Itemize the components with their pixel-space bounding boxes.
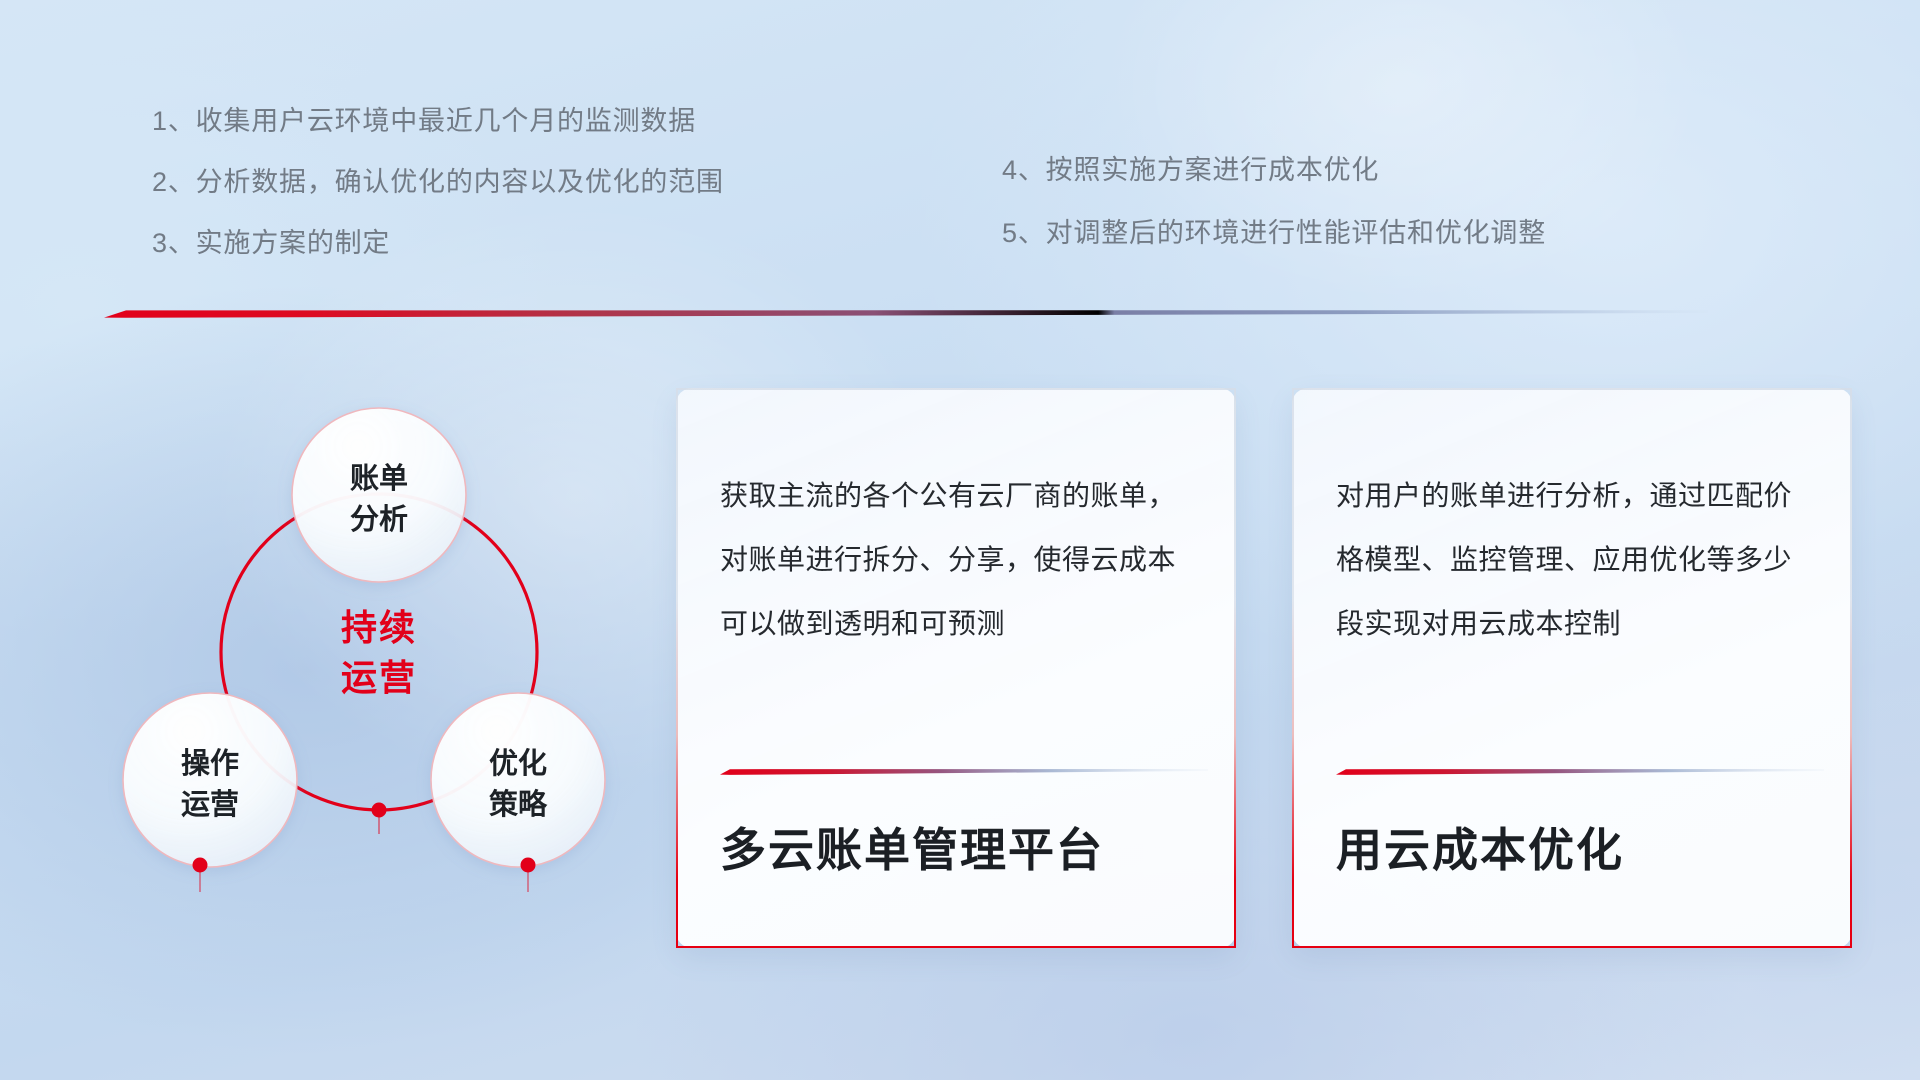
- step-item: 4、按照实施方案进行成本优化: [1002, 157, 1546, 184]
- venn-node-bottom-left: 操作 运营: [123, 693, 297, 892]
- steps-left-column: 1、收集用户云环境中最近几个月的监测数据 2、分析数据，确认优化的内容以及优化的…: [152, 108, 724, 291]
- venn-node-bottom-right: 优化 策略: [431, 693, 605, 892]
- venn-center-line1: 持续: [341, 607, 417, 648]
- venn-node-top-line1: 账单: [350, 462, 408, 495]
- section-divider: [104, 305, 1708, 316]
- venn-node-bl-line1: 操作: [181, 747, 239, 780]
- venn-dot-bottom-left: [193, 858, 208, 873]
- venn-center-line2: 运营: [341, 657, 417, 698]
- venn-dot-top: [372, 803, 387, 818]
- continuous-operations-diagram: 账单 分析 操作 运营 优化 策略 持续: [100, 352, 660, 952]
- venn-dot-bottom-right: [521, 858, 536, 873]
- card-title: 用云成本优化: [1336, 814, 1624, 880]
- card-accent-line: [1336, 762, 1824, 769]
- card-body-text: 获取主流的各个公有云厂商的账单，对账单进行拆分、分享，使得云成本可以做到透明和可…: [720, 464, 1192, 655]
- card-body-text: 对用户的账单进行分析，通过匹配价格模型、监控管理、应用优化等多少段实现对用云成本…: [1336, 464, 1808, 655]
- venn-node-bl-line2: 运营: [181, 788, 239, 821]
- slide-canvas: 1、收集用户云环境中最近几个月的监测数据 2、分析数据，确认优化的内容以及优化的…: [0, 0, 1920, 1080]
- card-title: 多云账单管理平台: [720, 814, 1104, 880]
- card-accent-line: [720, 762, 1208, 769]
- steps-right-column: 4、按照实施方案进行成本优化 5、对调整后的环境进行性能评估和优化调整: [1002, 157, 1546, 283]
- step-item: 3、实施方案的制定: [152, 230, 724, 257]
- venn-node-top-line2: 分析: [350, 503, 408, 536]
- venn-node-br-line2: 策略: [489, 787, 548, 821]
- card-multi-cloud-billing[interactable]: 获取主流的各个公有云厂商的账单，对账单进行拆分、分享，使得云成本可以做到透明和可…: [676, 388, 1236, 948]
- step-item: 2、分析数据，确认优化的内容以及优化的范围: [152, 169, 724, 196]
- card-cloud-cost-optimization[interactable]: 对用户的账单进行分析，通过匹配价格模型、监控管理、应用优化等多少段实现对用云成本…: [1292, 388, 1852, 948]
- venn-node-br-line1: 优化: [489, 747, 547, 780]
- step-item: 1、收集用户云环境中最近几个月的监测数据: [152, 108, 724, 135]
- step-item: 5、对调整后的环境进行性能评估和优化调整: [1002, 220, 1546, 247]
